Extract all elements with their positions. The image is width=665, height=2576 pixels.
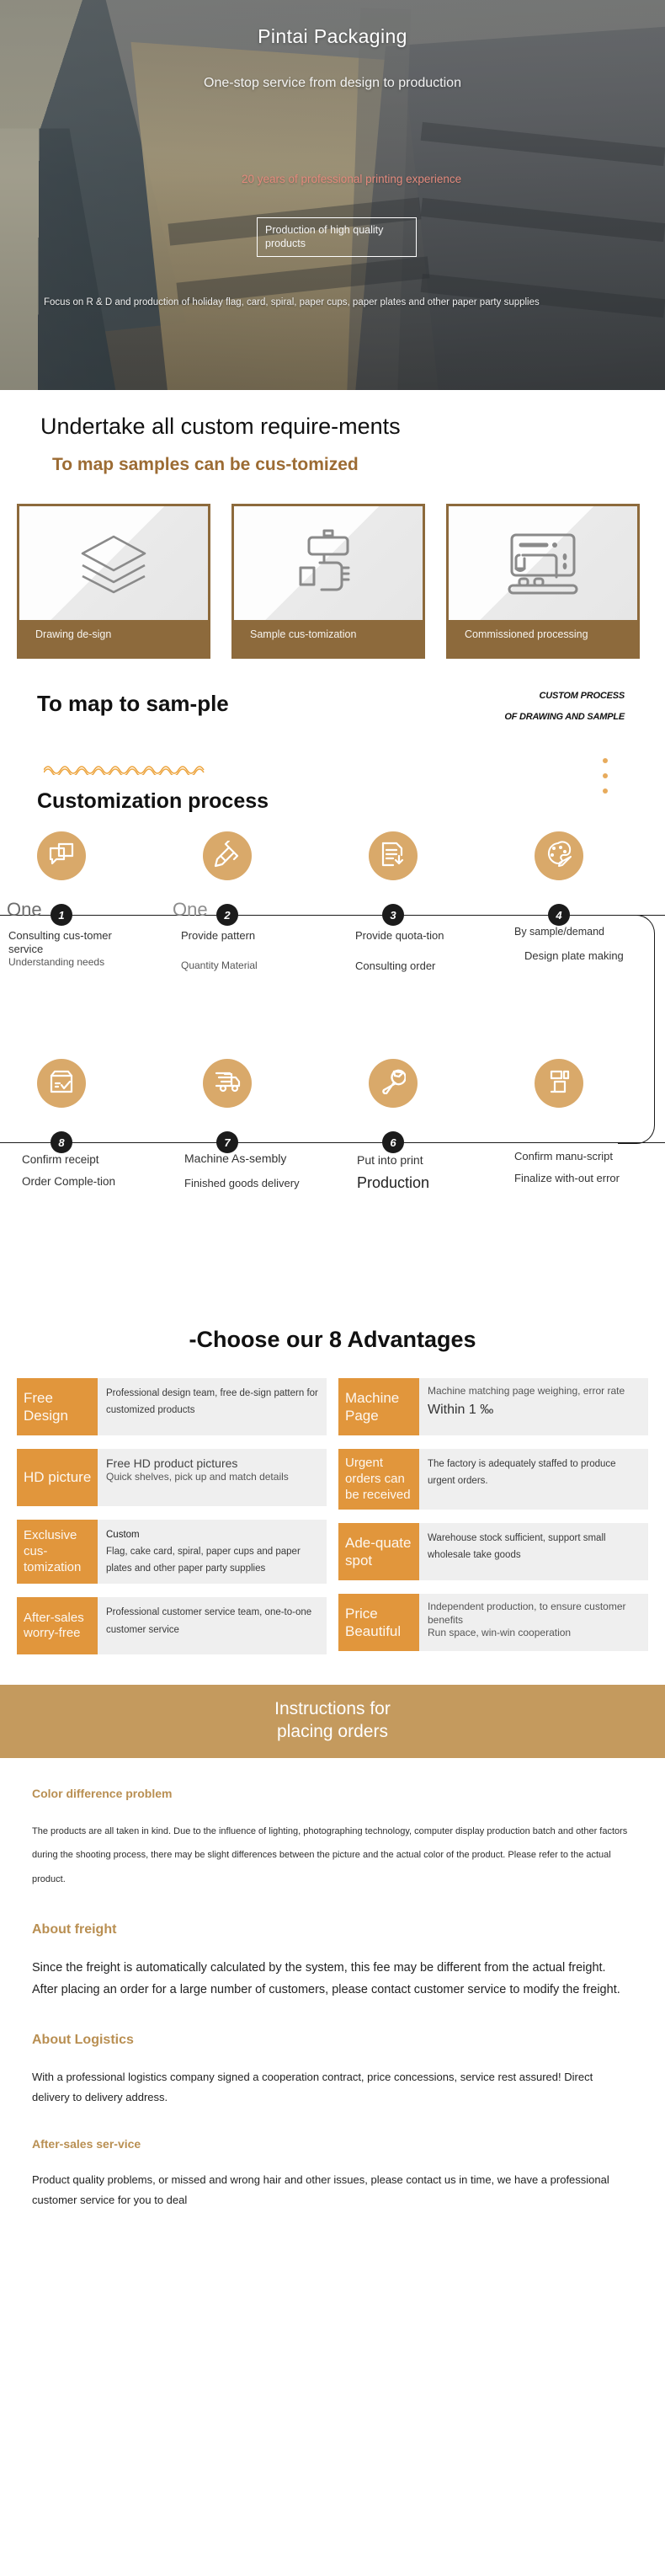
- step-subtitle: Quantity Material: [181, 959, 316, 972]
- hero-subtitle: One-stop service from design to producti…: [0, 76, 665, 91]
- instruction-heading: About Logistics: [32, 2032, 633, 2049]
- advantage-text-secondary: Run space, win-win cooperation: [428, 1627, 640, 1640]
- step-icon-circle: [369, 831, 418, 880]
- step-icon-circle: [37, 831, 86, 880]
- step-title: Provide quota-tion: [355, 929, 481, 943]
- instructions-body: Color difference problem The products ar…: [0, 1758, 665, 2265]
- advantages-column-right: Machine Page Machine matching page weigh…: [338, 1378, 648, 1654]
- custom-card[interactable]: Commissioned processing: [446, 504, 640, 659]
- process-row-bottom: 8 Confirm receipt Order Comple-tion: [0, 1059, 665, 1286]
- map-heading: To map to sam-ple: [37, 691, 315, 717]
- instruction-paragraph: The products are all taken in kind. Due …: [32, 1820, 633, 1890]
- step-number-badge: 4: [548, 904, 570, 926]
- instruction-heading: About freight: [32, 1921, 633, 1938]
- step-subtitle: Understanding needs: [8, 956, 143, 969]
- step-number-badge: 7: [216, 1131, 238, 1153]
- custom-card[interactable]: Drawing de-sign: [17, 504, 210, 659]
- advantage-text: Free HD product pictures Quick shelves, …: [98, 1449, 297, 1506]
- step-number-badge: 8: [51, 1131, 72, 1153]
- advantage-tag: Free Design: [17, 1378, 98, 1435]
- screen-chat-icon: [48, 842, 75, 871]
- instructions-banner: Instructions for placing orders: [0, 1685, 665, 1758]
- custom-card-list: Drawing de-sign Sampl: [0, 475, 665, 659]
- step-title: Put into print: [357, 1153, 483, 1168]
- step-number-badge: 1: [51, 904, 72, 926]
- advantage-text-secondary: Flag, cake card, spiral, paper cups and …: [106, 1543, 318, 1577]
- hero-focus-text: Focus on R & D and production of holiday…: [44, 295, 633, 310]
- process-step[interactable]: 7 Machine As-sembly Finished goods deliv…: [166, 1059, 332, 1108]
- advantage-text-primary: Custom: [106, 1526, 318, 1543]
- instruction-paragraph: Product quality problems, or missed and …: [32, 2170, 633, 2210]
- step-subtitle: Order Comple-tion: [22, 1175, 157, 1189]
- hero-banner: Pintai Packaging One-stop service from d…: [0, 0, 665, 390]
- instructions-section: Instructions for placing orders Color di…: [0, 1685, 665, 2265]
- step-number-badge: 2: [216, 904, 238, 926]
- map-to-sample-section: To map to sam-ple Customization process …: [0, 659, 665, 831]
- step-title: Provide pattern: [181, 929, 307, 943]
- print-proof-icon: [546, 1069, 572, 1098]
- advantages-heading: -Choose our 8 Advantages: [0, 1318, 665, 1378]
- advantage-text-primary: Free HD product pictures: [106, 1456, 289, 1471]
- instruction-heading: Color difference problem: [32, 1787, 633, 1802]
- card-label: Sample cus-tomization: [231, 620, 425, 659]
- advantage-text-primary: Professional design team, free de-sign p…: [106, 1385, 318, 1419]
- advantage-tag: Exclusive cus-tomization: [17, 1520, 98, 1584]
- step-subtitle: Finished goods delivery: [184, 1177, 319, 1190]
- hero-years-text: 20 years of professional printing experi…: [242, 173, 477, 187]
- hero-title: Pintai Packaging: [0, 25, 665, 48]
- card-label: Drawing de-sign: [17, 620, 210, 659]
- process-track-line: [0, 1142, 665, 1143]
- hero-content: Pintai Packaging One-stop service from d…: [0, 0, 665, 390]
- hand-stamp-icon: [292, 529, 364, 598]
- dot: [603, 773, 608, 778]
- custom-card[interactable]: Sample cus-tomization: [231, 504, 425, 659]
- advantage-text-primary: Professional customer service team, one-…: [106, 1604, 318, 1638]
- step-number-word: One: [7, 899, 42, 921]
- advantages-column-left: Free Design Professional design team, fr…: [17, 1378, 327, 1654]
- process-step[interactable]: 4 By sample/demand Design plate making: [497, 831, 663, 880]
- customization-process-heading: Customization process: [37, 789, 269, 814]
- dot: [603, 758, 608, 763]
- advantages-grid: Free Design Professional design team, fr…: [0, 1378, 665, 1654]
- advantage-item[interactable]: Free Design Professional design team, fr…: [17, 1378, 327, 1435]
- process-steps-section: One 1 Consulting cus-tomer service Under…: [0, 831, 665, 1307]
- advantage-item[interactable]: Machine Page Machine matching page weigh…: [338, 1378, 648, 1435]
- advantages-section: -Choose our 8 Advantages Free Design Pro…: [0, 1307, 665, 1663]
- instruction-heading: After-sales ser-vice: [32, 2137, 633, 2152]
- custom-requirements-section: Undertake all custom require-ments To ma…: [0, 390, 665, 659]
- advantage-text: Professional design team, free de-sign p…: [98, 1378, 327, 1435]
- advantage-text-secondary: Within 1 ‰: [428, 1398, 625, 1422]
- process-step[interactable]: One 2 Provide pattern Quantity Material: [166, 831, 332, 880]
- advantage-tag: HD picture: [17, 1449, 98, 1506]
- advantage-text-primary: Independent production, to ensure custom…: [428, 1601, 640, 1627]
- advantage-text: Warehouse stock sufficient, support smal…: [419, 1523, 648, 1580]
- advantage-tag: Ade-quate spot: [338, 1523, 419, 1580]
- wrench-icon: [380, 1069, 406, 1098]
- dot: [603, 788, 608, 794]
- instructions-banner-line1: Instructions for: [0, 1698, 665, 1720]
- step-subtitle: Production: [357, 1173, 492, 1193]
- delivery-truck-icon: [213, 1070, 242, 1098]
- advantage-text: Custom Flag, cake card, spiral, paper cu…: [98, 1520, 327, 1584]
- step-icon-circle: [369, 1059, 418, 1108]
- process-step[interactable]: item 6 Confirm manu-script Finalize with…: [497, 1059, 663, 1108]
- step-icon-circle: [203, 831, 252, 880]
- process-step[interactable]: 3 Provide quota-tion Consulting order: [332, 831, 497, 880]
- step-icon-circle: item 6: [535, 1059, 583, 1108]
- process-row-top: One 1 Consulting cus-tomer service Under…: [0, 831, 665, 1059]
- advantage-item[interactable]: Urgent orders can be received The factor…: [338, 1449, 648, 1510]
- advantage-text: The factory is adequately staffed to pro…: [419, 1449, 648, 1510]
- document-download-icon: [380, 841, 406, 872]
- advantage-tag: Price Beautiful: [338, 1594, 419, 1651]
- instructions-banner-line2: placing orders: [0, 1721, 665, 1743]
- instruction-paragraph: With a professional logistics company si…: [32, 2067, 633, 2107]
- squiggle-underline-icon: [44, 762, 212, 779]
- advantage-text-primary: Machine matching page weighing, error ra…: [428, 1385, 625, 1398]
- product-detail-page: Pintai Packaging One-stop service from d…: [0, 0, 665, 2265]
- instruction-paragraph: Since the freight is automatically calcu…: [32, 1957, 633, 2002]
- step-title: Machine As-sembly: [184, 1152, 311, 1166]
- advantage-text: Independent production, to ensure custom…: [419, 1594, 648, 1651]
- decorative-dots: [603, 758, 608, 804]
- layers-icon: [77, 532, 150, 596]
- custom-subheading: To map samples can be cus-tomized: [0, 441, 665, 475]
- custom-process-badge-line1: CUSTOM PROCESS: [539, 691, 625, 701]
- card-image: [19, 506, 208, 620]
- pencil-ruler-icon: [214, 841, 241, 872]
- step-number-badge: 3: [382, 904, 404, 926]
- advantage-item[interactable]: Exclusive cus-tomization Custom Flag, ca…: [17, 1520, 327, 1584]
- process-step[interactable]: One 1 Consulting cus-tomer service Under…: [0, 831, 166, 880]
- card-image: [234, 506, 423, 620]
- card-image: [449, 506, 637, 620]
- process-step[interactable]: 6 Put into print Production: [332, 1059, 497, 1108]
- advantage-text-primary: The factory is adequately staffed to pro…: [428, 1456, 640, 1489]
- custom-heading: Undertake all custom require-ments: [0, 414, 665, 441]
- step-subtitle: Finalize with-out error: [514, 1172, 649, 1185]
- advantage-tag: Machine Page: [338, 1378, 419, 1435]
- advantage-tag: Urgent orders can be received: [338, 1449, 419, 1510]
- step-title: Confirm manu-script: [514, 1150, 641, 1163]
- advantage-item[interactable]: Price Beautiful Independent production, …: [338, 1594, 648, 1651]
- hero-quality-box: Production of high quality products: [257, 217, 417, 257]
- palette-brush-icon: [545, 841, 572, 872]
- step-icon-circle: [535, 831, 583, 880]
- box-check-icon: [48, 1069, 75, 1098]
- advantage-item[interactable]: After-sales worry-free Professional cust…: [17, 1597, 327, 1654]
- advantage-tag: After-sales worry-free: [17, 1597, 98, 1654]
- step-number-badge: 6: [382, 1131, 404, 1153]
- step-subtitle: Consulting order: [355, 959, 490, 973]
- card-label: Commissioned processing: [446, 620, 640, 659]
- step-title: Consulting cus-tomer service: [8, 929, 135, 955]
- advantage-item[interactable]: Ade-quate spot Warehouse stock sufficien…: [338, 1523, 648, 1580]
- custom-process-badge-line2: OF DRAWING AND SAMPLE: [504, 712, 625, 722]
- sewing-machine-icon: [504, 530, 582, 597]
- process-step[interactable]: 8 Confirm receipt Order Comple-tion: [0, 1059, 166, 1108]
- advantage-text-primary: Warehouse stock sufficient, support smal…: [428, 1530, 640, 1563]
- step-title: Confirm receipt: [22, 1153, 148, 1167]
- advantage-text: Professional customer service team, one-…: [98, 1597, 327, 1654]
- advantage-text: Machine matching page weighing, error ra…: [419, 1378, 633, 1435]
- advantage-text-secondary: Quick shelves, pick up and match details: [106, 1471, 289, 1484]
- step-number-word: One: [173, 899, 208, 921]
- advantage-item[interactable]: HD picture Free HD product pictures Quic…: [17, 1449, 327, 1506]
- step-icon-circle: [203, 1059, 252, 1108]
- step-icon-circle: [37, 1059, 86, 1108]
